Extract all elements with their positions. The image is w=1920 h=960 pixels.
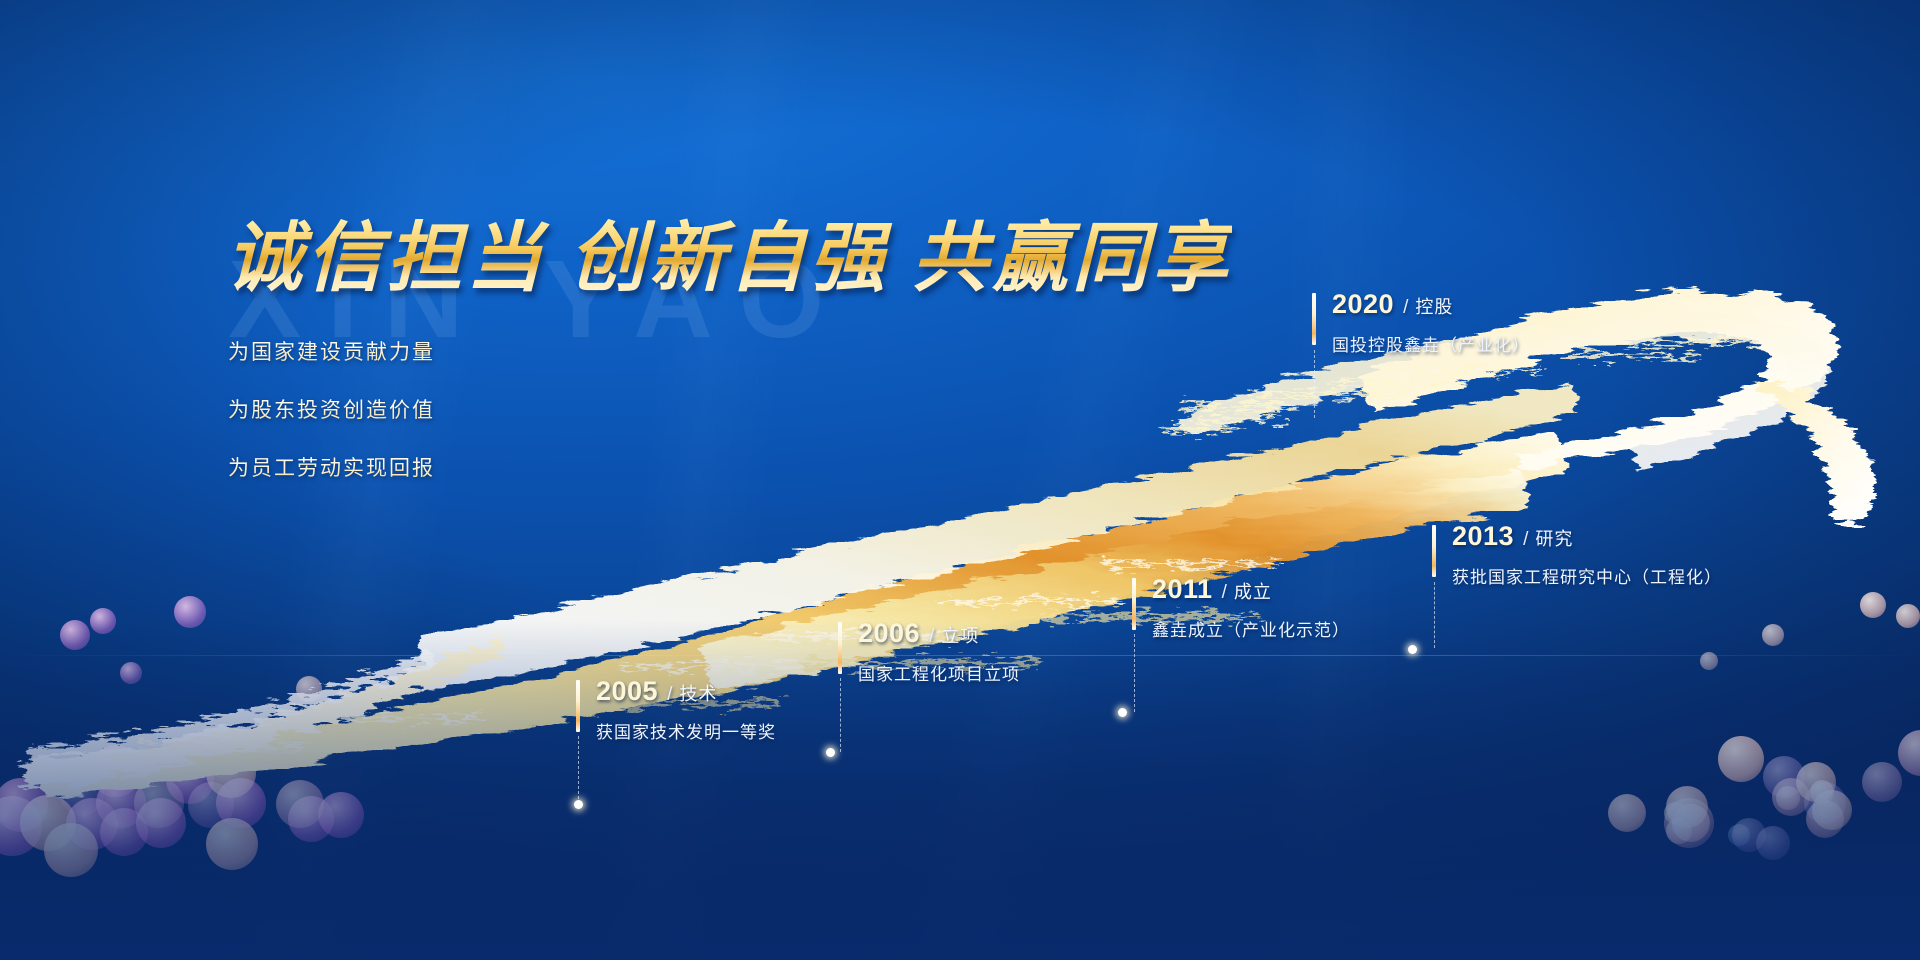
timeline-marker-bar <box>1132 578 1136 630</box>
timeline-connector-2005 <box>578 736 579 804</box>
timeline-item-2020[interactable]: 2020/控股 国投控股鑫垚（产业化） <box>1312 291 1530 356</box>
page-title: 诚信担当 创新自强 共赢同享 <box>226 196 1232 306</box>
timeline-connector-2020 <box>1314 350 1315 418</box>
slogan-list: 为国家建设贡献力量 为股东投资创造价值 为员工劳动实现回报 <box>228 336 435 510</box>
timeline-tag: 成立 <box>1234 582 1272 602</box>
timeline-separator: / <box>1222 582 1227 603</box>
timeline-item-2006[interactable]: 2006/立项 国家工程化项目立项 <box>838 620 1020 685</box>
timeline-separator: / <box>1403 297 1408 318</box>
timeline-description: 国家工程化项目立项 <box>858 660 1020 685</box>
timeline-separator: / <box>1523 529 1528 550</box>
timeline-year: 2011 <box>1152 576 1213 603</box>
timeline-description: 获批国家工程研究中心（工程化） <box>1452 563 1722 588</box>
timeline-tag: 立项 <box>941 626 979 646</box>
timeline-heading: 2013/研究 <box>1452 523 1722 550</box>
timeline-marker-bar <box>1312 293 1316 345</box>
timeline-item-2005[interactable]: 2005/技术 获国家技术发明一等奖 <box>576 678 776 743</box>
timeline-tag: 控股 <box>1415 297 1453 317</box>
timeline-dot-2013[interactable] <box>1408 645 1417 654</box>
timeline-year: 2006 <box>858 620 920 647</box>
timeline-description: 获国家技术发明一等奖 <box>596 718 776 743</box>
timeline-marker-bar <box>576 680 580 732</box>
timeline-separator: / <box>929 626 934 647</box>
timeline-dot-2005[interactable] <box>574 800 583 809</box>
timeline-heading: 2005/技术 <box>596 678 776 705</box>
timeline-year: 2020 <box>1332 291 1394 318</box>
timeline-heading: 2020/控股 <box>1332 291 1530 318</box>
poster-canvas: XIN YAO 诚信担当 创新自强 共赢同享 为国家建设贡献力量 为股东投资创造… <box>0 0 1920 960</box>
slogan-line-2: 为股东投资创造价值 <box>228 394 435 424</box>
timeline-connector-2011 <box>1134 634 1135 712</box>
timeline-tag: 技术 <box>679 684 717 704</box>
timeline-year: 2005 <box>596 678 658 705</box>
timeline-connector-2013 <box>1434 582 1435 648</box>
timeline-description: 国投控股鑫垚（产业化） <box>1332 331 1530 356</box>
slogan-line-3: 为员工劳动实现回报 <box>228 452 435 482</box>
timeline-marker-bar <box>1432 525 1436 577</box>
timeline-dot-2011[interactable] <box>1118 708 1127 717</box>
timeline-year: 2013 <box>1452 523 1514 550</box>
timeline-heading: 2006/立项 <box>858 620 1020 647</box>
timeline-connector-2006 <box>840 678 841 752</box>
timeline-dot-2006[interactable] <box>826 748 835 757</box>
timeline-tag: 研究 <box>1535 529 1573 549</box>
timeline-separator: / <box>667 684 672 705</box>
timeline-item-2011[interactable]: 2011/成立 鑫垚成立（产业化示范） <box>1132 576 1350 641</box>
slogan-line-1: 为国家建设贡献力量 <box>228 336 435 366</box>
timeline-item-2013[interactable]: 2013/研究 获批国家工程研究中心（工程化） <box>1432 523 1722 588</box>
timeline-marker-bar <box>838 622 842 674</box>
timeline-heading: 2011/成立 <box>1152 576 1350 603</box>
timeline-description: 鑫垚成立（产业化示范） <box>1152 616 1350 641</box>
